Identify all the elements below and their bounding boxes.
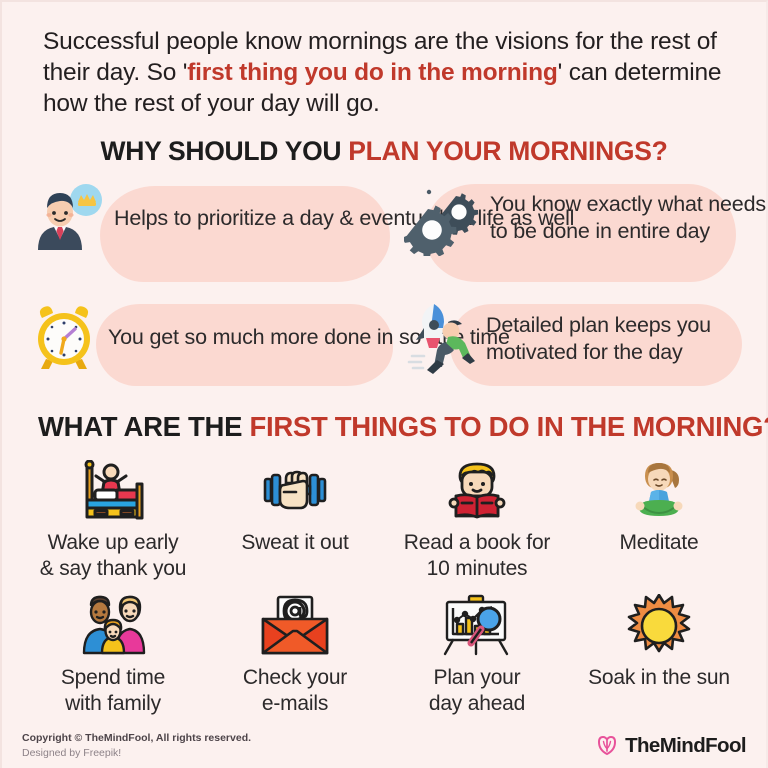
blob-shape [100, 186, 390, 282]
section-heading-why: WHY SHOULD YOU PLAN YOUR MORNINGS? [2, 136, 766, 167]
icon-wrapper [257, 589, 333, 663]
heading-why-highlight: PLAN YOUR MORNINGS? [348, 136, 667, 166]
icon-wrapper [77, 454, 149, 528]
activity-label: Wake up early & say thank you [40, 530, 186, 582]
activity-item: Plan your day ahead [386, 589, 568, 724]
person-in-bed-icon [77, 460, 149, 522]
activity-item: Spend time with family [22, 589, 204, 724]
brand-name: TheMindFool [625, 734, 746, 758]
activity-label: Check your e-mails [243, 665, 347, 717]
family-icon [76, 595, 150, 657]
person-reading-book-icon [446, 460, 508, 522]
intro-paragraph: Successful people know mornings are the … [43, 26, 733, 119]
activity-label: Soak in the sun [588, 665, 730, 691]
activity-item: Sweat it out [204, 454, 386, 589]
heading-what-highlight: FIRST THINGS TO DO IN THE MORNING? [250, 411, 768, 442]
copyright-text: Copyright © TheMindFool, All rights rese… [22, 731, 251, 746]
infographic-page: Successful people know mornings are the … [0, 0, 768, 768]
activity-label: Meditate [620, 530, 699, 556]
icon-wrapper [629, 454, 689, 528]
icon-wrapper [262, 454, 328, 528]
businessman-thinking-crown-icon [28, 182, 104, 256]
dumbbell-flex-icon [262, 465, 328, 517]
activity-item: Soak in the sun [568, 589, 750, 724]
email-envelope-icon [257, 595, 333, 657]
intro-highlight: first thing you do in the morning [187, 59, 557, 86]
icon-wrapper [446, 454, 508, 528]
heading-what-plain: WHAT ARE THE [38, 411, 250, 442]
activity-label: Read a book for 10 minutes [404, 530, 550, 582]
activity-item: Meditate [568, 454, 750, 589]
alarm-clock-icon [28, 302, 100, 374]
person-pushing-rocket-icon [404, 298, 480, 378]
benefit-text: You know exactly what needs to be done i… [490, 191, 766, 245]
themindfool-logo-icon [596, 735, 618, 757]
activity-label: Sweat it out [241, 530, 348, 556]
activity-grid: Wake up early & say thank you [22, 454, 750, 724]
heading-why-plain: WHY SHOULD YOU [101, 136, 349, 166]
section-heading-what: WHAT ARE THE FIRST THINGS TO DO IN THE M… [38, 411, 768, 443]
icon-wrapper [439, 589, 515, 663]
activity-item: Wake up early & say thank you [22, 454, 204, 589]
icon-wrapper [626, 589, 692, 663]
activity-label: Spend time with family [61, 665, 165, 717]
icon-wrapper: Read a book for 10 minutes [386, 454, 568, 589]
benefit-card: You know exactly what needs to be done i… [404, 182, 766, 256]
activity-item: Check your e-mails [204, 589, 386, 724]
meditating-person-icon [629, 460, 689, 522]
sun-icon [626, 594, 692, 658]
activity-label: Plan your day ahead [429, 665, 525, 717]
chart-easel-magnifier-icon [439, 594, 515, 658]
design-credit-text: Designed by Freepik! [22, 746, 121, 761]
brand-logo[interactable]: TheMindFool [596, 734, 746, 758]
benefit-card: Detailed plan keeps you motivated for th… [404, 298, 766, 378]
benefit-text: Detailed plan keeps you motivated for th… [486, 312, 766, 366]
icon-wrapper [76, 589, 150, 663]
gears-icon [404, 182, 482, 256]
